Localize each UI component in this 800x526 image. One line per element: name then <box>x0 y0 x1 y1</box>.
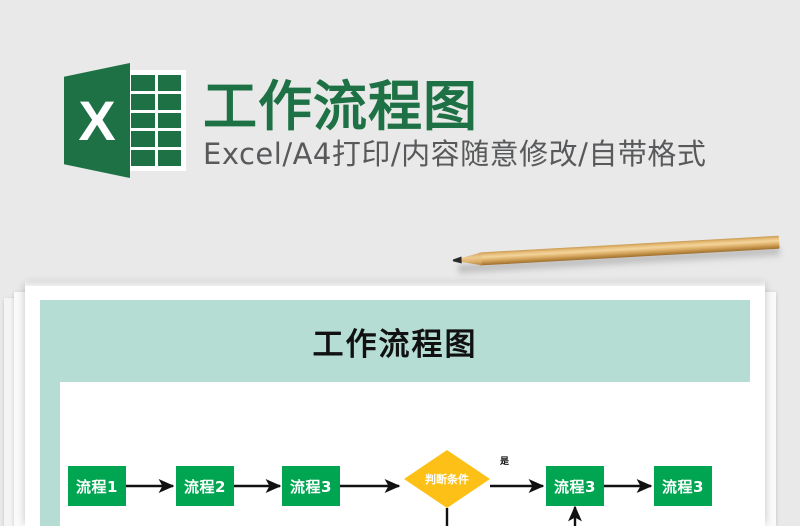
flowchart: 流程1 流程2 流程3 判断条件 流程3 流程3 是 <box>25 286 765 526</box>
banner-subtitle: Excel/A4打印/内容随意修改/自带格式 <box>203 131 706 173</box>
flow-node-process-2[interactable]: 流程2 <box>176 466 234 506</box>
excel-logo-spreadsheet <box>126 70 186 171</box>
excel-logo-letter: X <box>64 63 130 178</box>
document-top-shadow <box>25 280 765 288</box>
excel-logo: X <box>64 63 186 178</box>
document-preview-stack: 工作流程图 <box>0 286 800 526</box>
flow-node-process-1[interactable]: 流程1 <box>68 466 126 506</box>
flow-edge-label-yes: 是 <box>500 454 509 467</box>
paper-sheet-front: 工作流程图 <box>25 286 765 526</box>
banner-title: 工作流程图 <box>203 62 478 141</box>
flow-node-process-4[interactable]: 流程3 <box>546 466 604 506</box>
pencil-tip <box>453 256 462 263</box>
flow-node-process-3[interactable]: 流程3 <box>282 466 340 506</box>
flow-node-process-5[interactable]: 流程3 <box>654 466 712 506</box>
promo-banner: X 工作流程图 Excel/A4打印/内容随意修改/自带格式 <box>0 0 800 250</box>
